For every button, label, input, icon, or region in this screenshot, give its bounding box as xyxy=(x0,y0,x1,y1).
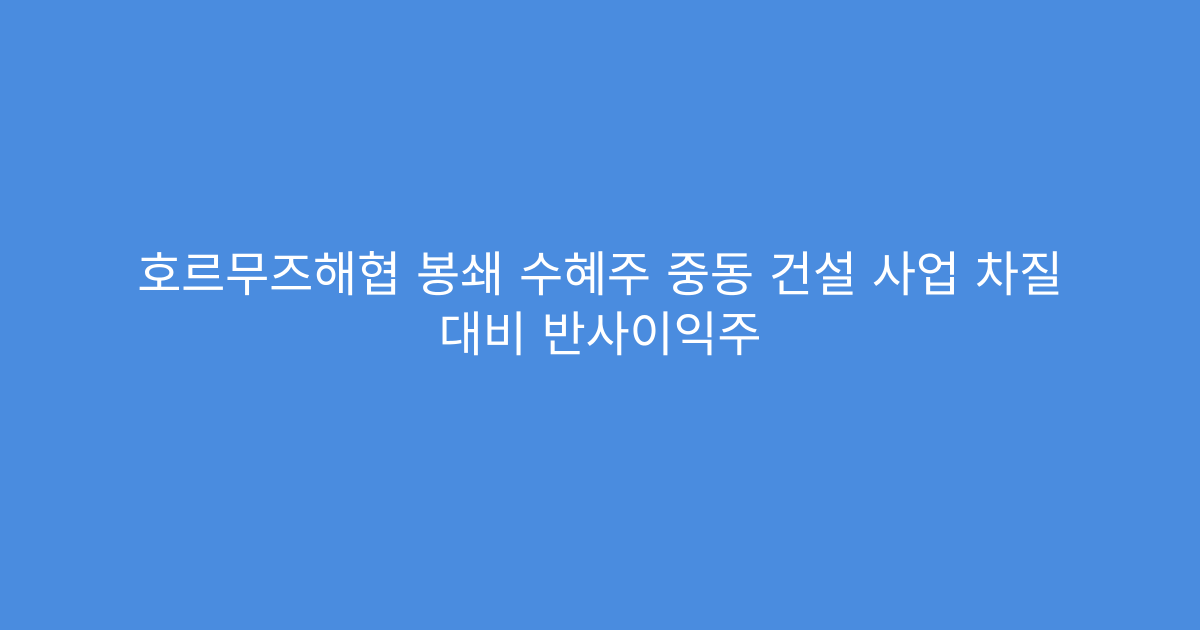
headline-container: 호르무즈해협 봉쇄 수혜주 중동 건설 사업 차질 대비 반사이익주 xyxy=(0,245,1200,365)
og-image-card: 호르무즈해협 봉쇄 수혜주 중동 건설 사업 차질 대비 반사이익주 xyxy=(0,0,1200,630)
page-title: 호르무즈해협 봉쇄 수혜주 중동 건설 사업 차질 대비 반사이익주 xyxy=(95,245,1105,365)
